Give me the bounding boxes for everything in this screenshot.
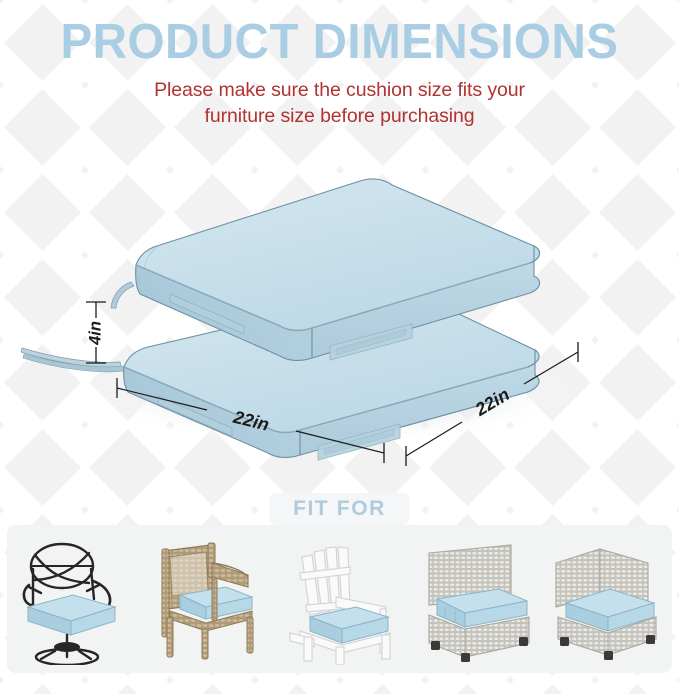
fit-for-item-sectional-armless[interactable] (406, 525, 539, 673)
fit-for-item-sectional-corner[interactable] (539, 525, 672, 673)
subtitle-line-1: Please make sure the cushion size fits y… (0, 78, 679, 104)
swivel-chair-cushion (28, 595, 115, 635)
fit-for-item-swivel-chair[interactable] (7, 525, 140, 673)
dimension-height-4in: 4in (86, 302, 106, 363)
cushion-tie-straps (21, 282, 134, 372)
fit-for-label: FIT FOR (293, 498, 386, 519)
product-dimension-illustration: 4in 22in 22in (0, 150, 679, 495)
fit-for-item-wicker-dining-chair[interactable] (140, 525, 273, 673)
fit-for-badge: FIT FOR (269, 493, 410, 525)
subtitle-line-2: furniture size before purchasing (0, 104, 679, 130)
dimension-label-height: 4in (86, 321, 104, 346)
fit-for-panel (7, 525, 672, 673)
header: PRODUCT DIMENSIONS Please make sure the … (0, 0, 679, 130)
page-title: PRODUCT DIMENSIONS (10, 17, 669, 69)
fit-for-item-adirondack-chair[interactable] (273, 525, 406, 673)
page-subtitle: Please make sure the cushion size fits y… (0, 78, 679, 130)
sectional-armless-icon (429, 545, 529, 662)
sectional-corner-icon (556, 549, 656, 660)
swivel-chair-base (36, 635, 98, 665)
